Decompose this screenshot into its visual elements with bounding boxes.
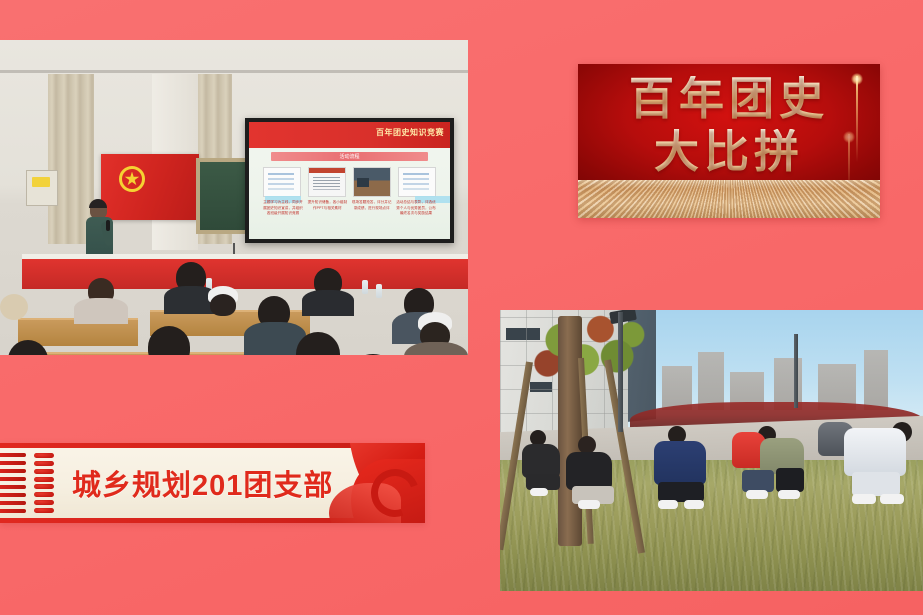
tick-pill	[34, 469, 54, 474]
presentation-slide: 百年团史知识竞赛 活动流程 主题学习为主线，同步开展团史知识宣讲，并组织各班级开…	[249, 122, 450, 239]
distant-building	[864, 350, 888, 410]
poster-canvas: 百年团史知识竞赛 活动流程 主题学习为主线，同步开展团史知识宣讲，并组织各班级开…	[0, 0, 923, 615]
tick-pill	[34, 492, 54, 497]
outdoor-volunteer-photo	[500, 310, 923, 591]
tick-pill	[34, 453, 54, 458]
slide-caption-2: 提升知识储备，各小组制作PPT与相关素材	[307, 200, 347, 217]
slide-title: 百年团史知识竞赛	[376, 127, 444, 138]
volunteer-shoe	[852, 494, 876, 504]
water-bottle	[362, 280, 368, 294]
tree-canopy	[526, 310, 646, 394]
audience-head	[210, 294, 236, 316]
slide-caption-3: 现场答题抢答，评分并记录成绩，进行现场点评	[352, 200, 392, 217]
floor-glow	[578, 180, 880, 189]
tick-dash	[0, 469, 26, 473]
slide-thumb-1	[263, 167, 301, 197]
title-text-block: 百年团史 大比拼	[578, 76, 880, 174]
distant-skyline	[650, 328, 923, 410]
tick-dash	[0, 453, 26, 457]
branch-name-banner: 城乡规划201团支部	[0, 443, 425, 523]
volunteer-shoe	[778, 490, 800, 499]
lecture-hall-photo: 百年团史知识竞赛 活动流程 主题学习为主线，同步开展团史知识宣讲，并组织各班级开…	[0, 40, 468, 355]
tick-dash	[0, 509, 26, 513]
volunteer-legs	[776, 468, 804, 492]
audience-head	[346, 354, 400, 355]
audience-shoulders	[74, 298, 128, 324]
volunteer-torso-white	[844, 428, 906, 476]
volunteer-torso	[522, 444, 560, 478]
tick-dash	[0, 501, 26, 505]
tick-pill	[34, 477, 54, 482]
bainian-tuanshi-title-banner: 百年团史 大比拼	[578, 64, 880, 218]
audience-group	[0, 266, 468, 355]
tick-dash	[0, 477, 26, 481]
title-line-2: 大比拼	[578, 129, 880, 174]
slide-section-bar: 活动流程	[271, 152, 428, 161]
flag-emblem-circle	[119, 166, 145, 192]
slide-caption-1: 主题学习为主线，同步开展团史知识宣讲，并组织各班级开展知识竞赛	[263, 200, 303, 217]
tick-dash-column	[0, 453, 26, 513]
volunteer-shoe	[746, 490, 768, 499]
slide-thumbnail-row	[263, 167, 436, 197]
water-bottle	[376, 284, 382, 298]
flag-star-icon	[125, 172, 140, 187]
volunteer-shoe	[530, 488, 548, 496]
microphone-icon	[106, 220, 110, 231]
desk-row	[38, 352, 248, 355]
slide-thumb-3	[353, 167, 391, 197]
distant-building	[662, 366, 692, 410]
volunteer-legs	[742, 470, 774, 492]
tree-trunk	[558, 316, 582, 546]
volunteer-shoe	[684, 500, 704, 509]
tick-pill	[34, 500, 54, 505]
tick-pill	[34, 508, 54, 513]
volunteer-torso	[566, 452, 612, 490]
slide-section-label: 活动流程	[339, 153, 359, 160]
audience-shoulders	[302, 290, 354, 316]
wall-control-box	[26, 170, 58, 206]
tick-dash	[0, 493, 26, 497]
volunteer-legs	[658, 482, 704, 502]
audience-shoulders	[404, 342, 468, 355]
slide-thumb-2	[308, 167, 346, 197]
projection-screen: 百年团史知识竞赛 活动流程 主题学习为主线，同步开展团史知识宣讲，并组织各班级开…	[245, 118, 454, 243]
branch-name-label: 城乡规划201团支部	[72, 462, 333, 504]
volunteer-shoe	[880, 494, 904, 504]
light-pole	[794, 334, 798, 408]
slide-caption-4: 活动总结与表彰，评选优秀个人与优秀团员，公布最终名次与奖励结果	[396, 200, 436, 217]
distant-building	[698, 352, 724, 410]
tick-dash	[0, 485, 26, 489]
straw-hat	[0, 294, 28, 320]
tick-pill-column	[34, 453, 54, 513]
volunteer-shoe	[658, 500, 678, 509]
tick-pill	[34, 484, 54, 489]
volunteer-shoe	[578, 500, 600, 509]
red-ribbon-decoration	[323, 443, 425, 523]
volunteer-legs	[852, 472, 900, 496]
tick-pill	[34, 461, 54, 466]
tick-dash	[0, 461, 26, 465]
title-line-1: 百年团史	[578, 76, 880, 121]
slide-thumb-4	[398, 167, 436, 197]
stage-wood-floor	[578, 180, 880, 218]
light-pole	[618, 312, 623, 432]
volunteer-torso	[654, 441, 706, 485]
youth-league-flag	[101, 154, 199, 220]
slide-caption-row: 主题学习为主线，同步开展团史知识宣讲，并组织各班级开展知识竞赛 提升知识储备，各…	[263, 200, 436, 217]
